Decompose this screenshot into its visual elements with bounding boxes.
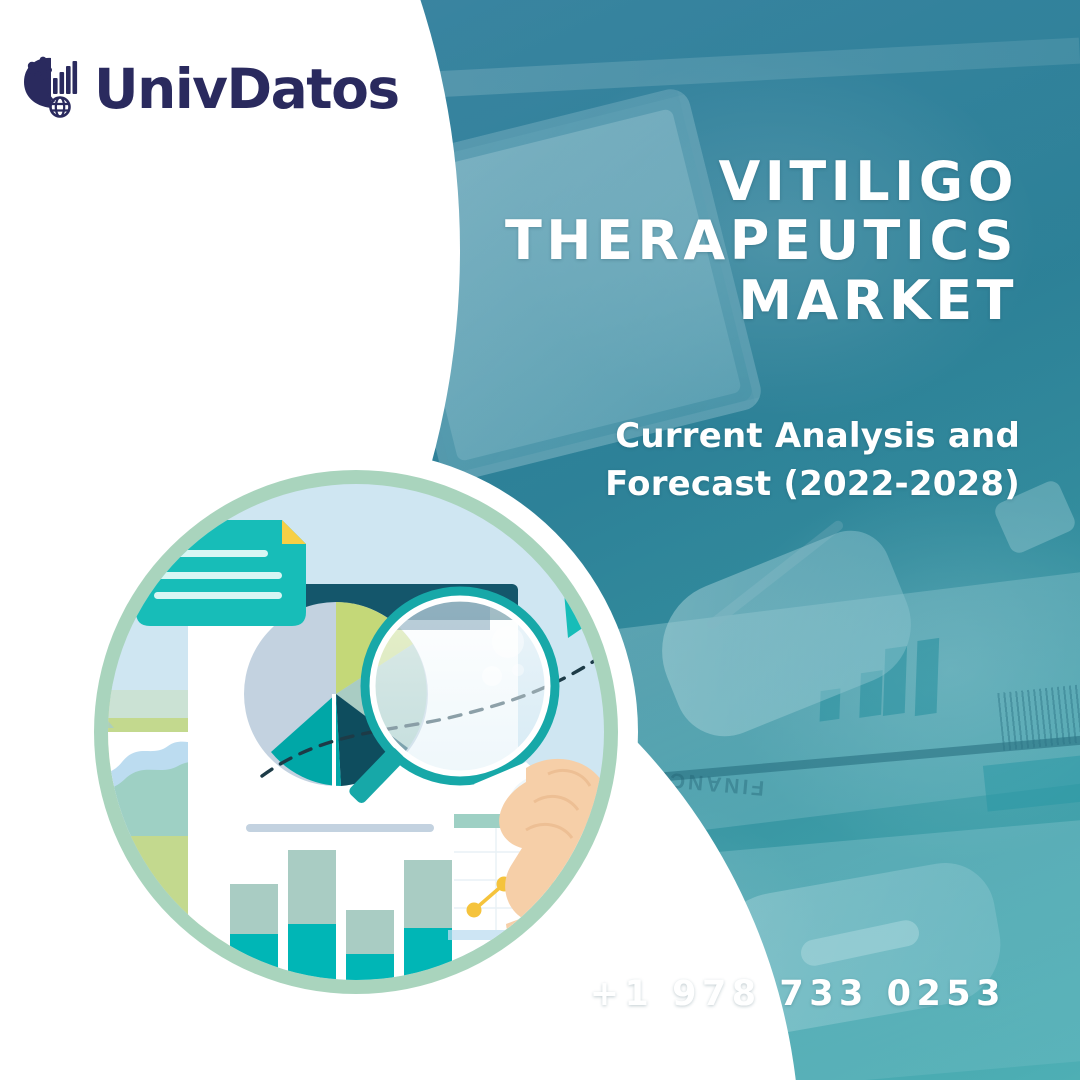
headline-line-1: VITILIGO [498, 152, 1018, 211]
data-analysis-circle-illustration [56, 432, 656, 1032]
page-title: VITILIGO THERAPEUTICS MARKET [498, 152, 1018, 330]
brand-logo[interactable]: UnivDatos [18, 52, 399, 126]
poster-canvas: FINANCIA [0, 0, 1080, 1080]
headline-line-2: THERAPEUTICS [498, 211, 1018, 270]
network-bars-globe-icon [18, 52, 84, 126]
headline-line-3: MARKET [498, 271, 1018, 330]
brand-name: UnivDatos [94, 62, 399, 117]
